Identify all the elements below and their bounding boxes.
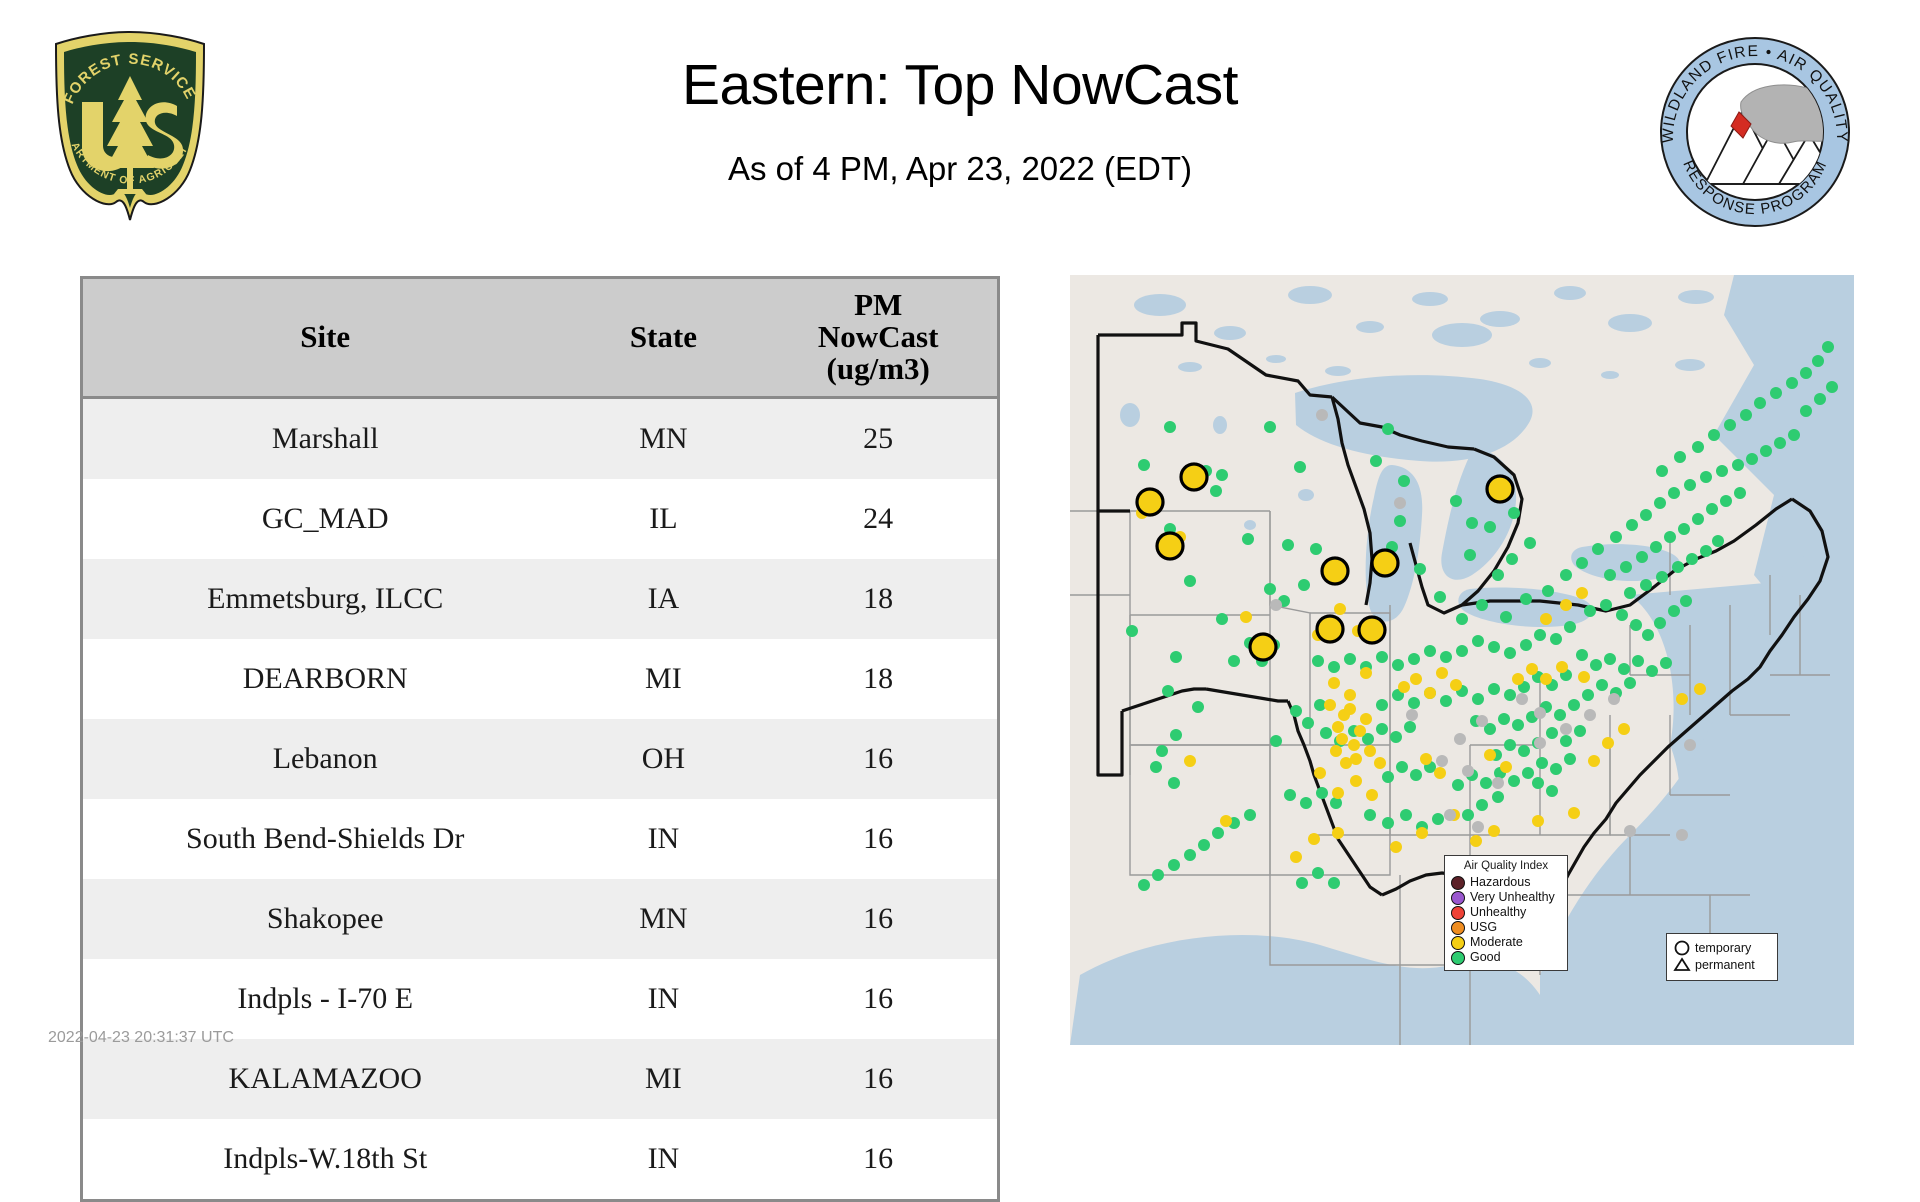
aqi-label-unhealthy: Unhealthy <box>1470 906 1526 919</box>
cell-pm: 18 <box>759 559 997 639</box>
cell-site: Shakopee <box>83 879 567 959</box>
column-header-state: State <box>567 279 759 397</box>
aqi-legend-item-usg: USG <box>1451 920 1561 935</box>
table-header-row: Site State PM NowCast (ug/m3) <box>83 279 997 397</box>
cell-state: IA <box>567 559 759 639</box>
cell-state: IN <box>567 1119 759 1199</box>
cell-pm: 16 <box>759 879 997 959</box>
aqi-legend-item-good: Good <box>1451 950 1561 965</box>
cell-state: IL <box>567 479 759 559</box>
top-nowcast-table-container: Site State PM NowCast (ug/m3) Marshall M… <box>80 276 1000 1202</box>
table-body: Marshall MN 25 GC_MAD IL 24 Emmetsburg, … <box>83 397 997 1199</box>
table-row: Shakopee MN 16 <box>83 879 997 959</box>
top-site-marker <box>1359 617 1385 643</box>
table-row: Emmetsburg, ILCC IA 18 <box>83 559 997 639</box>
cell-pm: 16 <box>759 719 997 799</box>
pm-header-line-1: PM <box>763 289 993 321</box>
cell-pm: 16 <box>759 959 997 1039</box>
aqi-label-usg: USG <box>1470 921 1497 934</box>
aqi-swatch-good <box>1451 951 1465 965</box>
aqi-monitor-map[interactable]: Air Quality Index Hazardous Very Unhealt… <box>1070 275 1854 1045</box>
aqi-label-very-unhealthy: Very Unhealthy <box>1470 891 1555 904</box>
cell-pm: 24 <box>759 479 997 559</box>
monitor-type-label-temporary: temporary <box>1695 940 1755 957</box>
aqi-swatch-moderate <box>1451 936 1465 950</box>
aqi-swatch-usg <box>1451 921 1465 935</box>
aqi-legend-item-very-unhealthy: Very Unhealthy <box>1451 890 1561 905</box>
top-site-marker <box>1317 616 1343 642</box>
aqi-label-good: Good <box>1470 951 1501 964</box>
table-row: South Bend-Shields Dr IN 16 <box>83 799 997 879</box>
column-header-pm-nowcast: PM NowCast (ug/m3) <box>759 279 997 397</box>
cell-state: IN <box>567 959 759 1039</box>
monitor-type-glyphs <box>1673 939 1691 975</box>
page-title: Eastern: Top NowCast <box>0 52 1920 118</box>
cell-state: MI <box>567 639 759 719</box>
cell-site: Emmetsburg, ILCC <box>83 559 567 639</box>
aqi-swatch-very-unhealthy <box>1451 891 1465 905</box>
cell-pm: 18 <box>759 639 997 719</box>
top-site-marker <box>1250 634 1276 660</box>
table-row: KALAMAZOO MI 16 <box>83 1039 997 1119</box>
top-site-marker <box>1137 489 1163 515</box>
aqi-legend-item-moderate: Moderate <box>1451 935 1561 950</box>
render-timestamp: 2022-04-23 20:31:37 UTC <box>48 1029 234 1047</box>
cell-pm: 16 <box>759 799 997 879</box>
top-site-marker <box>1322 558 1348 584</box>
cell-pm: 16 <box>759 1039 997 1119</box>
aqi-label-moderate: Moderate <box>1470 936 1523 949</box>
aqi-legend: Air Quality Index Hazardous Very Unhealt… <box>1444 855 1568 971</box>
top-site-marker <box>1372 550 1398 576</box>
monitor-type-legend: temporary permanent <box>1666 933 1778 981</box>
slide-root: FOREST SERVICE DEPARTMENT OF AGRICULTURE <box>0 0 1920 1080</box>
top-site-marker <box>1487 476 1513 502</box>
aqi-swatch-hazardous <box>1451 876 1465 890</box>
cell-site: Indpls - I-70 E <box>83 959 567 1039</box>
aqi-swatch-unhealthy <box>1451 906 1465 920</box>
cell-site: DEARBORN <box>83 639 567 719</box>
cell-pm: 25 <box>759 397 997 479</box>
cell-state: MN <box>567 397 759 479</box>
temporary-circle-icon <box>1676 942 1689 955</box>
permanent-triangle-icon <box>1675 959 1689 970</box>
table-row: DEARBORN MI 18 <box>83 639 997 719</box>
page-subtitle: As of 4 PM, Apr 23, 2022 (EDT) <box>0 150 1920 188</box>
top-nowcast-table: Site State PM NowCast (ug/m3) Marshall M… <box>83 279 997 1199</box>
aqi-legend-item-hazardous: Hazardous <box>1451 875 1561 890</box>
cell-site: Marshall <box>83 397 567 479</box>
cell-site: KALAMAZOO <box>83 1039 567 1119</box>
cell-state: MI <box>567 1039 759 1119</box>
cell-pm: 16 <box>759 1119 997 1199</box>
cell-site: Lebanon <box>83 719 567 799</box>
cell-state: MN <box>567 879 759 959</box>
table-row: Marshall MN 25 <box>83 397 997 479</box>
table-row: Indpls-W.18th St IN 16 <box>83 1119 997 1199</box>
monitor-type-label-permanent: permanent <box>1695 957 1755 974</box>
cell-state: OH <box>567 719 759 799</box>
table-row: Indpls - I-70 E IN 16 <box>83 959 997 1039</box>
table-row: GC_MAD IL 24 <box>83 479 997 559</box>
table-row: Lebanon OH 16 <box>83 719 997 799</box>
aqi-legend-item-unhealthy: Unhealthy <box>1451 905 1561 920</box>
cell-site: South Bend-Shields Dr <box>83 799 567 879</box>
cell-site: GC_MAD <box>83 479 567 559</box>
pm-header-line-3: (ug/m3) <box>763 353 993 385</box>
top-site-marker <box>1157 533 1183 559</box>
cell-state: IN <box>567 799 759 879</box>
aqi-legend-title: Air Quality Index <box>1451 860 1561 872</box>
column-header-site: Site <box>83 279 567 397</box>
aqi-label-hazardous: Hazardous <box>1470 876 1530 889</box>
pm-header-line-2: NowCast <box>763 321 993 353</box>
cell-site: Indpls-W.18th St <box>83 1119 567 1199</box>
top-site-marker <box>1181 464 1207 490</box>
